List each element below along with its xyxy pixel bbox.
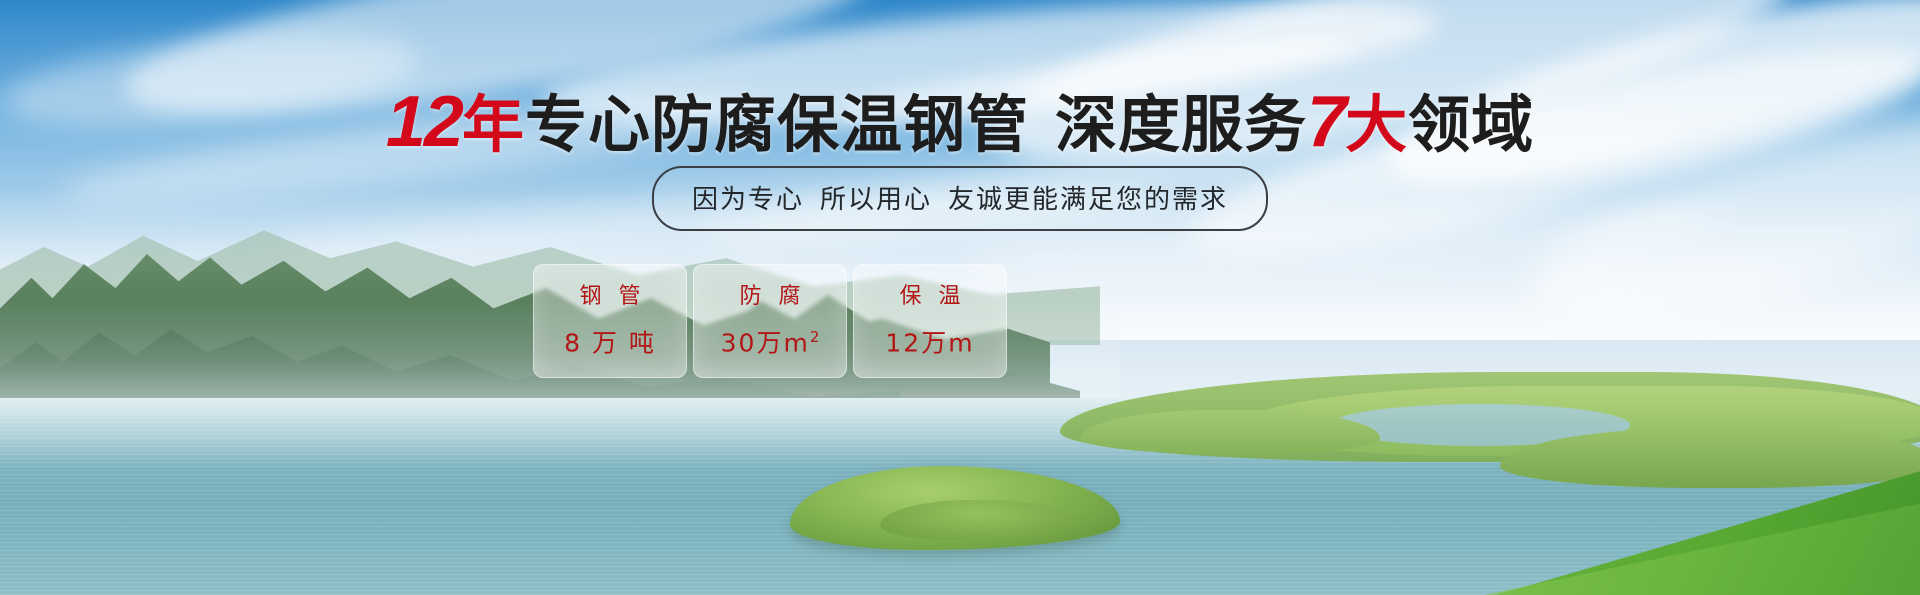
- subtitle-part-1: 因为专心: [692, 185, 804, 215]
- stat-card-title: 保 温: [895, 286, 966, 308]
- stat-card-steel-pipe[interactable]: 钢 管 8 万 吨: [533, 264, 687, 378]
- subtitle-part-2: 所以用心: [820, 185, 932, 215]
- headline-fields-number: 7: [1307, 82, 1345, 162]
- headline-fields-word: 领域: [1408, 88, 1534, 161]
- stat-card-value-text: 8 万 吨: [564, 329, 656, 358]
- headline-years-number: 12: [386, 82, 462, 162]
- subtitle-part-3: 友诚更能满足您的需求: [948, 185, 1228, 215]
- banner-headline: 12年专心防腐保温钢管深度服务7大领域: [0, 86, 1920, 158]
- headline-main-phrase: 专心防腐保温钢管: [525, 88, 1029, 161]
- headline-fields-unit: 大: [1345, 88, 1408, 161]
- stat-card-insulation[interactable]: 保 温 12万m: [853, 264, 1007, 378]
- headline-years-unit: 年: [462, 88, 525, 161]
- stat-card-title: 防 腐: [735, 286, 806, 308]
- grass-islet-shadow: [880, 500, 1080, 540]
- headline-service-phrase: 深度服务: [1055, 88, 1307, 161]
- stat-card-value-text: 30万m: [721, 329, 810, 358]
- stat-card-value: 30万m2: [721, 330, 820, 355]
- stat-card-title: 钢 管: [575, 286, 646, 308]
- stat-card-value: 12万m: [885, 330, 974, 355]
- hero-banner: 12年专心防腐保温钢管深度服务7大领域 因为专心所以用心友诚更能满足您的需求 钢…: [0, 0, 1920, 595]
- stat-card-value-text: 12万m: [885, 329, 974, 358]
- banner-subtitle-pill: 因为专心所以用心友诚更能满足您的需求: [652, 166, 1268, 231]
- stat-cards: 钢 管 8 万 吨 防 腐 30万m2 保 温 12万m: [533, 264, 1007, 378]
- stat-card-anticorrosion[interactable]: 防 腐 30万m2: [693, 264, 847, 378]
- stat-card-value-sup: 2: [810, 328, 820, 346]
- banner-subtitle-wrap: 因为专心所以用心友诚更能满足您的需求: [0, 166, 1920, 231]
- stat-card-value: 8 万 吨: [564, 330, 656, 355]
- marshland-patch: [1080, 410, 1380, 454]
